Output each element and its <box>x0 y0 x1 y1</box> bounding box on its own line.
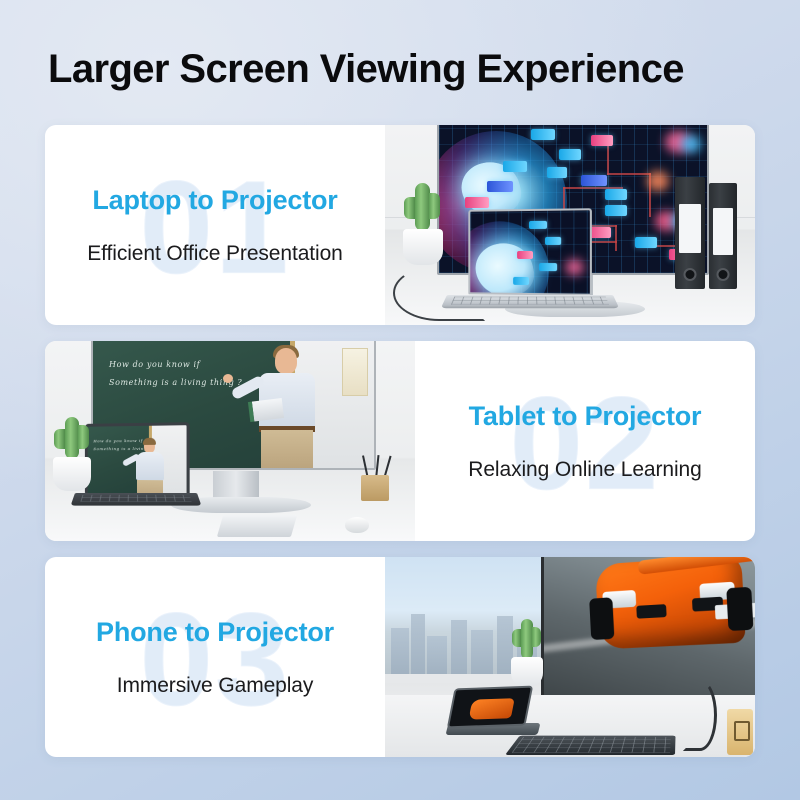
binder-ring <box>717 268 730 281</box>
cactus-arm-right <box>78 425 89 449</box>
flow-node <box>517 251 533 259</box>
card-text-pane: 02 Tablet to Projector Relaxing Online L… <box>415 341 755 541</box>
plant-pot <box>511 657 543 687</box>
feature-card-01[interactable]: 01 Laptop to Projector Efficient Office … <box>45 125 755 325</box>
screen-bokeh <box>565 259 583 275</box>
cactus-arm-right <box>429 193 440 219</box>
screen-bokeh <box>681 135 701 153</box>
ring-binder <box>675 177 705 289</box>
card-photo-office <box>385 125 755 325</box>
skyline-building <box>391 628 409 674</box>
flow-node <box>581 175 607 186</box>
keyboard-keys <box>512 737 671 753</box>
teacher-hand-with-chalk <box>223 374 233 383</box>
flow-node <box>465 197 489 208</box>
race-car-graphic <box>595 557 746 649</box>
wall-poster <box>342 348 368 396</box>
phone-race-car-graphic <box>469 698 515 719</box>
cactus-arm-right <box>532 627 541 647</box>
feature-card-02[interactable]: 02 Tablet to Projector Relaxing Online L… <box>45 341 755 541</box>
scene-classroom-tablet-to-monitor: How do you know if Something is a living… <box>45 341 415 541</box>
page-title: Larger Screen Viewing Experience <box>48 44 684 94</box>
card-subline: Efficient Office Presentation <box>87 242 342 266</box>
cactus-arm-left <box>404 197 415 219</box>
car-wheel <box>589 597 614 640</box>
teacher-head <box>275 348 297 374</box>
flow-node <box>539 263 557 271</box>
tablet-keyboard-case <box>71 493 202 506</box>
flow-node <box>559 149 581 160</box>
flow-node <box>531 129 555 140</box>
flow-node <box>513 277 529 285</box>
card-watermark-number: 03 <box>140 594 291 726</box>
flow-node <box>529 221 547 229</box>
binder-ring <box>684 268 697 281</box>
scene-gaming-phone-to-monitor <box>385 557 755 757</box>
screen-bokeh <box>647 171 669 191</box>
binder-label <box>713 208 733 255</box>
flow-node <box>591 135 613 146</box>
flow-node <box>545 237 561 245</box>
hdmi-adapter <box>727 709 753 755</box>
skyline-building <box>427 636 447 674</box>
scene-office-laptop-to-monitor <box>385 125 755 325</box>
teacher-book <box>248 398 284 422</box>
notepad <box>217 515 297 537</box>
car-wheel <box>726 587 753 631</box>
car-rear-wing <box>638 557 755 575</box>
tablet-teacher-shirt <box>136 452 164 480</box>
chalkboard-line-1: How do you know if <box>109 360 200 369</box>
teacher-trousers <box>261 430 313 470</box>
flow-node <box>487 181 513 192</box>
flow-wire <box>607 173 651 175</box>
card-subline: Relaxing Online Learning <box>468 458 701 482</box>
card-text-pane: 03 Phone to Projector Immersive Gameplay <box>45 557 385 757</box>
keyboard <box>505 736 676 755</box>
card-watermark-number: 02 <box>510 378 661 510</box>
pen-holder <box>361 475 389 501</box>
cactus-stem <box>415 183 430 231</box>
card-photo-gaming <box>385 557 755 757</box>
car-vent <box>636 604 666 619</box>
tablet-keys <box>80 495 191 502</box>
flow-node <box>605 189 627 200</box>
ring-binder <box>709 183 737 289</box>
plant-pot <box>403 229 443 265</box>
skyline-building <box>451 620 467 674</box>
tablet-teacher-hair <box>143 438 156 445</box>
tablet-screen: How do you know if Something is a living… <box>85 422 190 498</box>
hdmi-cable <box>683 679 717 751</box>
hdmi-cable <box>393 265 485 321</box>
mouse <box>345 517 369 533</box>
flow-node <box>547 167 567 178</box>
flow-wire <box>615 225 617 251</box>
feature-card-03[interactable]: 03 Phone to Projector Immersive Gameplay <box>45 557 755 757</box>
binder-label <box>679 204 701 253</box>
plant-pot <box>53 457 91 491</box>
flow-node <box>605 205 627 216</box>
card-text-pane: 01 Laptop to Projector Efficient Office … <box>45 125 385 325</box>
laptop-screen <box>468 208 592 296</box>
cactus-stem <box>65 417 79 459</box>
card-headline: Tablet to Projector <box>469 401 702 432</box>
card-headline: Phone to Projector <box>96 617 334 648</box>
monitor-screen <box>541 557 755 705</box>
card-subline: Immersive Gameplay <box>117 674 314 698</box>
card-watermark-number: 01 <box>140 162 291 294</box>
card-headline: Laptop to Projector <box>92 185 337 216</box>
skyline-building <box>411 614 425 674</box>
flow-node <box>503 161 527 172</box>
skyline-building <box>471 630 493 674</box>
card-photo-classroom: How do you know if Something is a living… <box>45 341 415 541</box>
tablet-chalk-line-1: How do you know if <box>93 438 143 443</box>
phone-screen <box>447 686 533 729</box>
flow-wire <box>607 141 609 175</box>
cactus-arm-left <box>512 629 521 647</box>
cactus-arm-left <box>54 429 65 449</box>
flow-node <box>635 237 657 248</box>
